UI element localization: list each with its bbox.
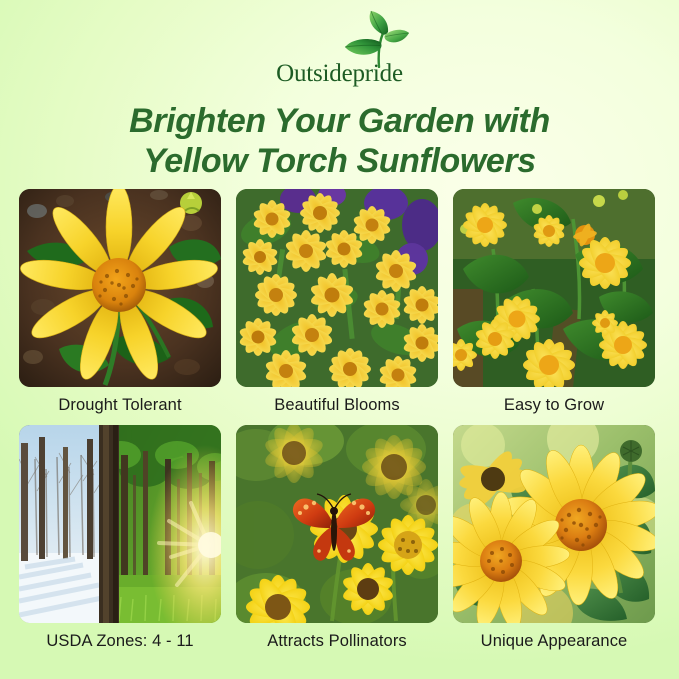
feature-caption: Drought Tolerant <box>19 387 221 423</box>
closeup-yellow-torch-flowers-photo <box>453 425 655 623</box>
headline-line-1: Brighten Your Garden with <box>0 101 679 141</box>
feature-cell: USDA Zones: 4 - 11 <box>19 425 221 659</box>
feature-cell: Beautiful Blooms <box>236 189 438 423</box>
winter-summer-forest-split-photo <box>19 425 221 623</box>
feature-caption: Easy to Grow <box>453 387 655 423</box>
feature-cell: Attracts Pollinators <box>236 425 438 659</box>
feature-cell: Drought Tolerant <box>19 189 221 423</box>
infographic-page: Outsidepride Brighten Your Garden with Y… <box>0 0 679 679</box>
page-title: Brighten Your Garden with Yellow Torch S… <box>0 101 679 181</box>
feature-grid: Drought Tolerant <box>19 189 660 659</box>
headline-line-2: Yellow Torch Sunflowers <box>0 141 679 181</box>
butterfly-on-sunflower-photo <box>236 425 438 623</box>
feature-caption: Beautiful Blooms <box>236 387 438 423</box>
feature-caption: Attracts Pollinators <box>236 623 438 659</box>
single-yellow-flower-on-soil-photo <box>19 189 221 387</box>
feature-caption: Unique Appearance <box>453 623 655 659</box>
brand-logo: Outsidepride <box>240 8 440 90</box>
feature-cell: Easy to Grow <box>453 189 655 423</box>
mass-of-yellow-blooms-photo <box>236 189 438 387</box>
header: Outsidepride Brighten Your Garden with Y… <box>0 0 679 181</box>
feature-cell: Unique Appearance <box>453 425 655 659</box>
feature-caption: USDA Zones: 4 - 11 <box>19 623 221 659</box>
yellow-flowers-with-foliage-photo <box>453 189 655 387</box>
brand-name: Outsidepride <box>240 61 440 86</box>
